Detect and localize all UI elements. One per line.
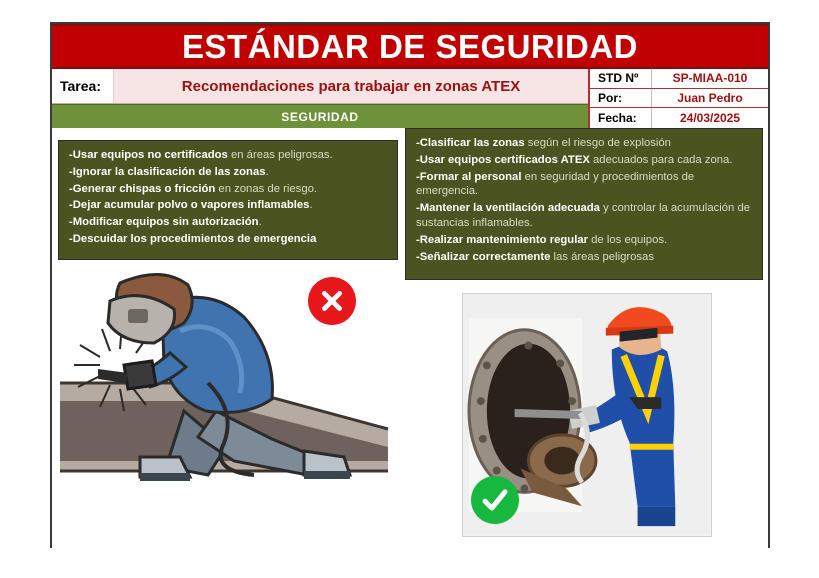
section-bar: SEGURIDAD xyxy=(52,104,588,128)
recommended-item-lead: -Señalizar correctamente xyxy=(416,251,550,263)
prohibited-item-lead: -Modificar equipos sin autorización xyxy=(69,216,259,228)
prohibited-item: -Descuidar los procedimientos de emergen… xyxy=(69,232,387,247)
red-cross-badge xyxy=(308,277,356,325)
task-row: Tarea: Recomendaciones para trabajar en … xyxy=(52,69,588,104)
prohibited-item-rest: . xyxy=(266,166,269,178)
prohibited-item-rest: . xyxy=(259,216,262,228)
info-left-column: Tarea: Recomendaciones para trabajar en … xyxy=(52,69,588,128)
prohibited-item-rest: . xyxy=(309,199,312,211)
recommended-item-lead: -Mantener la ventilación adecuada xyxy=(416,202,600,214)
green-check-badge xyxy=(471,476,519,524)
recommended-item: -Señalizar correctamente las áreas pelig… xyxy=(416,250,752,265)
meta-value-author: Juan Pedro xyxy=(652,89,768,108)
info-table: Tarea: Recomendaciones para trabajar en … xyxy=(52,69,768,128)
close-icon xyxy=(319,288,345,314)
prohibited-item-rest: en zonas de riesgo. xyxy=(215,183,317,195)
document-banner: ESTÁNDAR DE SEGURIDAD xyxy=(52,24,768,69)
meta-row-date: Fecha: 24/03/2025 xyxy=(590,108,768,128)
prohibited-item-lead: -Descuidar los procedimientos de emergen… xyxy=(69,233,316,245)
prohibited-item-lead: -Dejar acumular polvo o vapores inflamab… xyxy=(69,199,309,211)
recommended-item-lead: -Clasificar las zonas xyxy=(416,137,525,149)
prohibited-item: -Usar equipos no certificados en áreas p… xyxy=(69,148,387,163)
content-area: -Usar equipos no certificados en áreas p… xyxy=(52,128,768,565)
safety-standard-sheet: ESTÁNDAR DE SEGURIDAD Tarea: Recomendaci… xyxy=(50,22,770,548)
prohibited-item: -Dejar acumular polvo o vapores inflamab… xyxy=(69,198,387,213)
meta-row-std: STD Nº SP-MIAA-010 xyxy=(590,69,768,89)
recommended-item: -Formar al personal en seguridad y proce… xyxy=(416,170,752,200)
page-title: ESTÁNDAR DE SEGURIDAD xyxy=(182,30,638,63)
meta-key-author: Por: xyxy=(590,89,652,108)
recommended-item: -Clasificar las zonas según el riesgo de… xyxy=(416,136,752,151)
prohibited-item: -Ignorar la clasificación de las zonas. xyxy=(69,165,387,180)
prohibited-item-rest: en áreas peligrosas. xyxy=(228,149,333,161)
meta-key-std: STD Nº xyxy=(590,69,652,88)
meta-value-std: SP-MIAA-010 xyxy=(652,69,768,88)
incorrect-practice-image xyxy=(58,261,404,521)
meta-row-author: Por: Juan Pedro xyxy=(590,89,768,109)
info-right-column: STD Nº SP-MIAA-010 Por: Juan Pedro Fecha… xyxy=(588,69,768,128)
prohibited-item-lead: -Generar chispas o fricción xyxy=(69,183,215,195)
prohibited-item: -Modificar equipos sin autorización. xyxy=(69,215,387,230)
recommended-item-lead: -Formar al personal xyxy=(416,171,521,183)
section-label: SEGURIDAD xyxy=(281,110,358,124)
prohibited-item-lead: -Ignorar la clasificación de las zonas xyxy=(69,166,266,178)
recommended-item: -Realizar mantenimiento regular de los e… xyxy=(416,233,752,248)
recommended-item-rest: las áreas peligrosas xyxy=(550,251,654,263)
recommended-item-lead: -Usar equipos certificados ATEX xyxy=(416,154,590,166)
recommended-item-rest: de los equipos. xyxy=(588,234,667,246)
prohibited-item: -Generar chispas o fricción en zonas de … xyxy=(69,182,387,197)
meta-value-date: 24/03/2025 xyxy=(652,108,768,128)
recommended-item-lead: -Realizar mantenimiento regular xyxy=(416,234,588,246)
check-icon xyxy=(480,485,510,515)
recommended-item-rest: según el riesgo de explosión xyxy=(525,137,671,149)
recommended-item: -Mantener la ventilación adecuada y cont… xyxy=(416,201,752,231)
meta-key-date: Fecha: xyxy=(590,108,652,128)
prohibited-item-lead: -Usar equipos no certificados xyxy=(69,149,228,161)
task-value: Recomendaciones para trabajar en zonas A… xyxy=(114,69,588,103)
task-label: Tarea: xyxy=(52,69,114,103)
recommended-actions-panel: -Clasificar las zonas según el riesgo de… xyxy=(405,128,763,280)
prohibited-actions-panel: -Usar equipos no certificados en áreas p… xyxy=(58,140,398,260)
recommended-item: -Usar equipos certificados ATEX adecuado… xyxy=(416,153,752,168)
correct-practice-image xyxy=(462,293,712,537)
recommended-item-rest: adecuados para cada zona. xyxy=(590,154,733,166)
